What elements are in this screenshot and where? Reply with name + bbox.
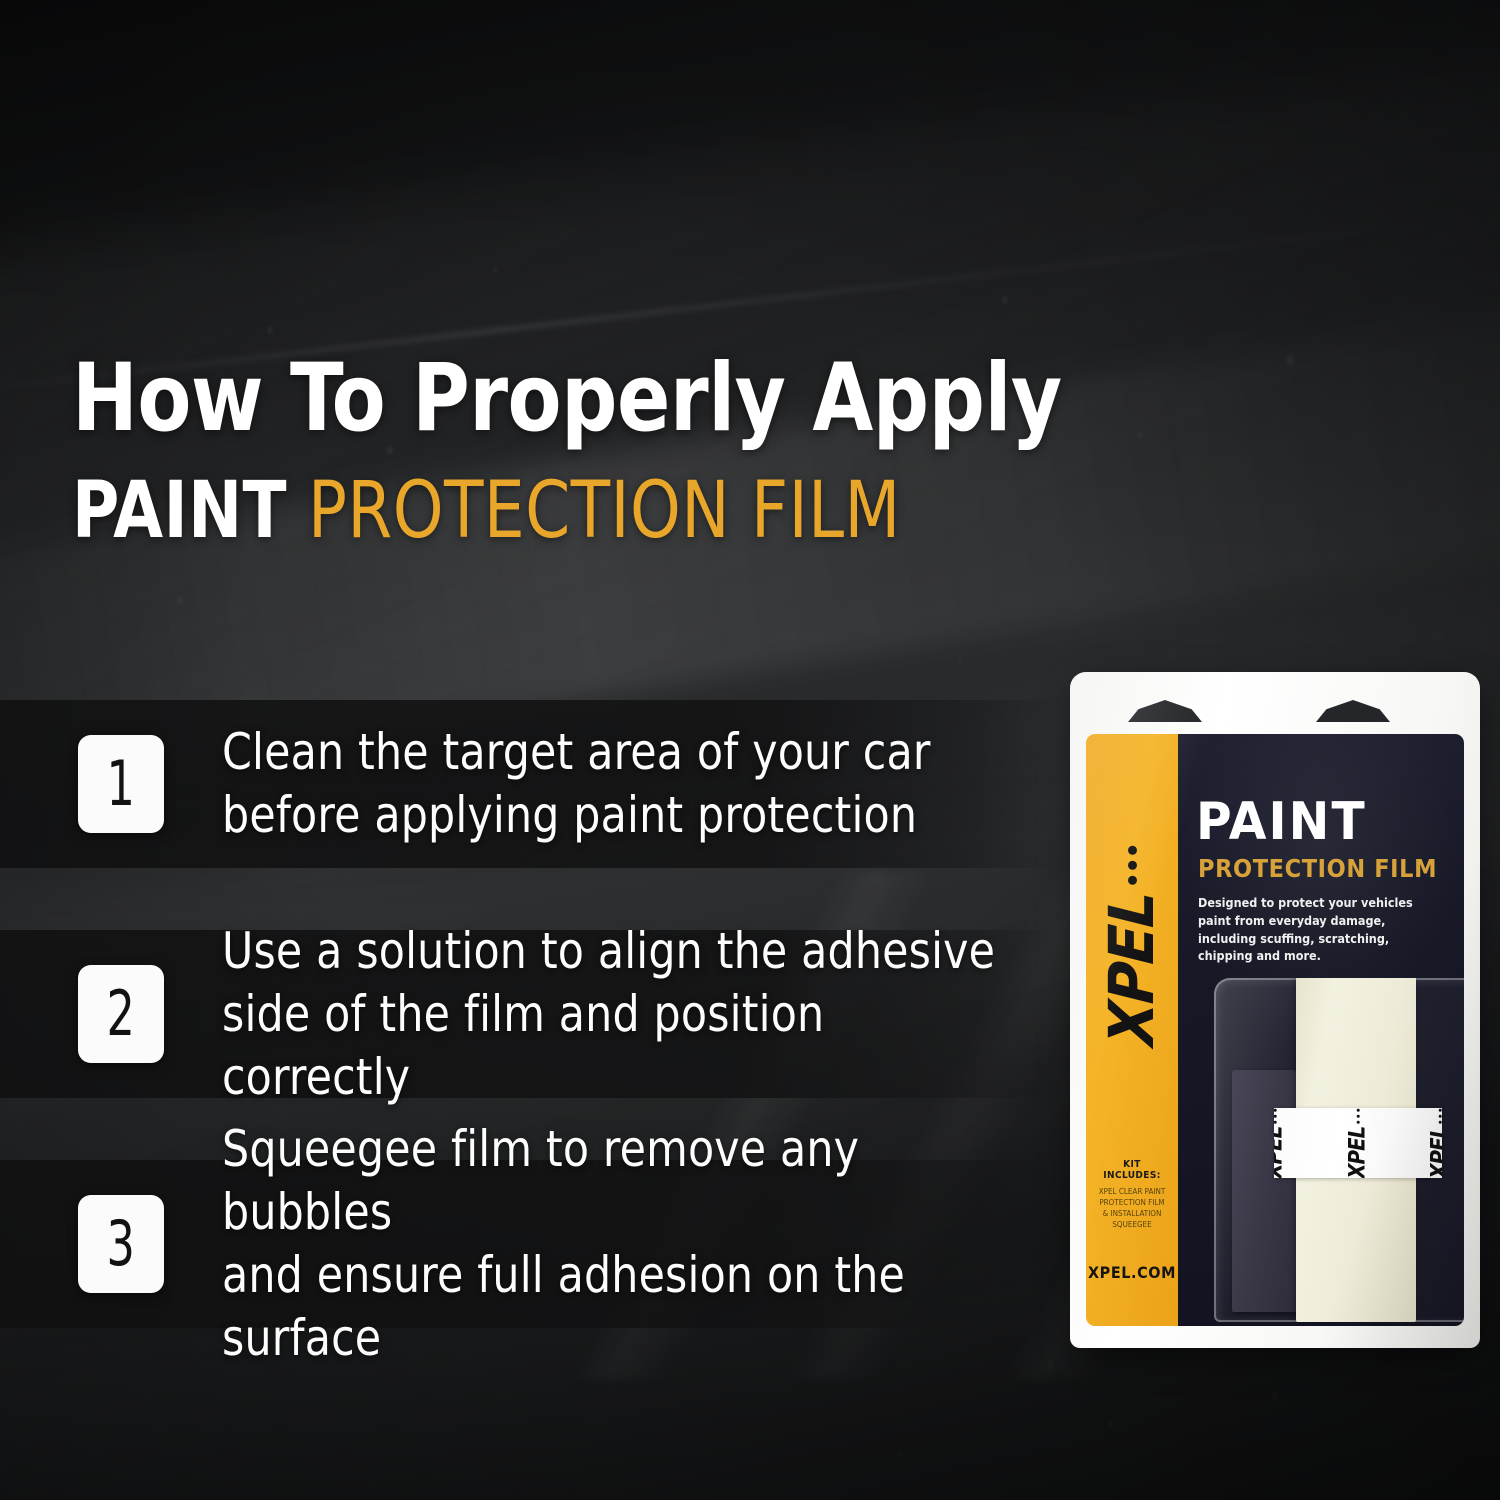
- package-product-subtitle: PROTECTION FILM: [1198, 856, 1437, 881]
- band-xpel-logo-2: XPEL: [1346, 1108, 1371, 1178]
- step-item-1: 1 Clean the target area of your car befo…: [0, 700, 1060, 868]
- band-xpel-dots-icon-3: [1439, 1108, 1442, 1123]
- xpel-logo: XPEL: [1101, 846, 1163, 1044]
- band-xpel-logo-3: XPEL: [1428, 1108, 1442, 1178]
- package-description: Designed to protect your vehicles paint …: [1198, 894, 1418, 965]
- product-package-image: XPEL KIT INCLUDES: XPEL CLEAR PAINT PROT…: [1070, 672, 1480, 1348]
- band-xpel-dots-icon-2: [1356, 1108, 1360, 1123]
- kit-includes-title: KIT INCLUDES:: [1094, 1159, 1170, 1181]
- steps-list: 1 Clean the target area of your car befo…: [0, 700, 1060, 1390]
- step-number-badge-3: 3: [78, 1195, 164, 1293]
- step-number-1: 1: [107, 753, 135, 815]
- film-brand-band: XPEL XPEL XPEL: [1274, 1108, 1442, 1178]
- package-brand-stripe: XPEL KIT INCLUDES: XPEL CLEAR PAINT PROT…: [1086, 734, 1178, 1326]
- headline-protection-film: PROTECTION FILM: [308, 466, 901, 556]
- step-item-2: 2 Use a solution to align the adhesive s…: [0, 930, 1060, 1098]
- xpel-logo-wordmark: XPEL: [1101, 891, 1163, 1048]
- band-xpel-wordmark-3: XPEL: [1428, 1126, 1442, 1178]
- band-xpel-logo-1: XPEL: [1274, 1108, 1288, 1178]
- headline-paint: PAINT: [72, 466, 287, 556]
- band-xpel-wordmark-2: XPEL: [1346, 1126, 1371, 1178]
- kit-includes-block: KIT INCLUDES: XPEL CLEAR PAINT PROTECTIO…: [1086, 1159, 1178, 1230]
- package-website-url: XPEL.COM: [1086, 1263, 1178, 1282]
- package-dark-panel: PAINT PROTECTION FILM Designed to protec…: [1178, 734, 1464, 1326]
- headline-line-1: How To Properly Apply: [72, 352, 1076, 446]
- band-xpel-wordmark-1: XPEL: [1274, 1126, 1288, 1178]
- step-number-badge-2: 2: [78, 965, 164, 1063]
- poster-canvas: How To Properly Apply PAINT PROTECTION F…: [0, 0, 1500, 1500]
- blister-tray: XPEL XPEL XPEL: [1214, 978, 1464, 1322]
- step-text-1: Clean the target area of your car before…: [222, 721, 931, 847]
- headline-block: How To Properly Apply PAINT PROTECTION F…: [72, 352, 1152, 550]
- xpel-logo-dots-icon: [1128, 846, 1137, 885]
- package-label-area: XPEL KIT INCLUDES: XPEL CLEAR PAINT PROT…: [1086, 734, 1464, 1326]
- kit-includes-body: XPEL CLEAR PAINT PROTECTION FILM & INSTA…: [1094, 1186, 1170, 1230]
- step-text-2: Use a solution to align the adhesive sid…: [222, 920, 1018, 1109]
- step-item-3: 3 Squeegee film to remove any bubbles an…: [0, 1160, 1060, 1328]
- step-number-2: 2: [107, 983, 135, 1045]
- step-number-3: 3: [107, 1213, 135, 1275]
- hang-hole-icon-left: [1128, 700, 1202, 722]
- squeegee-tool: [1232, 1070, 1296, 1312]
- headline-line-2: PAINT PROTECTION FILM: [72, 472, 1066, 550]
- hang-hole-icon-right: [1316, 700, 1390, 722]
- package-backing-card: XPEL KIT INCLUDES: XPEL CLEAR PAINT PROT…: [1070, 672, 1480, 1348]
- step-number-badge-1: 1: [78, 735, 164, 833]
- package-product-title: PAINT: [1196, 796, 1367, 848]
- step-text-3: Squeegee film to remove any bubbles and …: [222, 1118, 1018, 1370]
- band-xpel-dots-icon-1: [1274, 1108, 1277, 1123]
